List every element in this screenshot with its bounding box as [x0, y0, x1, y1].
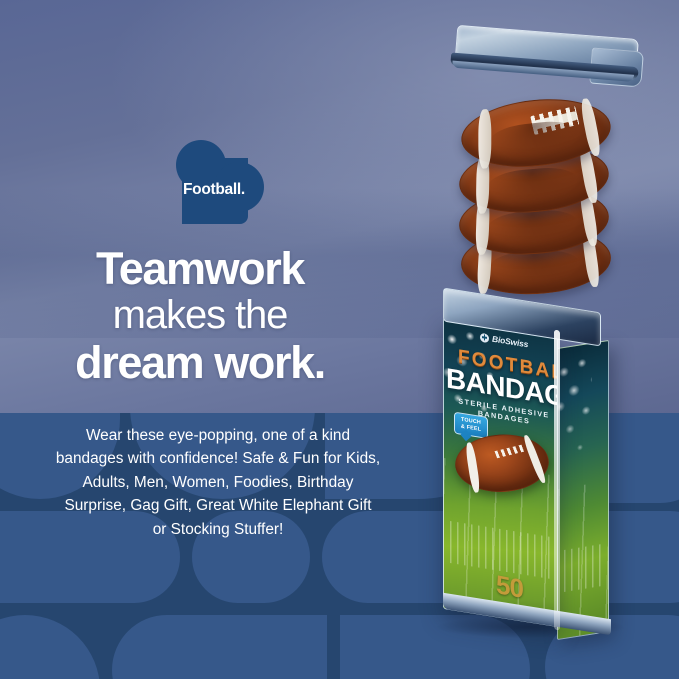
body-copy-line: or Stocking Stuffer!: [22, 518, 414, 541]
heart-logo-label: Football.: [176, 181, 272, 199]
product-tin: BioSwiss FOOTBALL BANDAGE STERILE ADHESI…: [433, 300, 633, 630]
body-copy-line: Wear these eye-popping, one of a kind: [22, 424, 414, 447]
medical-cross-icon: [480, 332, 489, 342]
tin-edge-highlight: [554, 330, 560, 631]
body-copy-line: Surprise, Gag Gift, Great White Elephant…: [22, 494, 414, 517]
promo-image: Football. Teamwork makes the dream work.…: [0, 0, 679, 679]
headline-line-2: makes the: [0, 293, 400, 338]
bandage-stack: [447, 100, 637, 300]
bandage-count: 50: [496, 569, 523, 605]
tin-side-panel: [557, 340, 609, 640]
pattern-shape: [112, 615, 327, 679]
headline: Teamwork makes the dream work.: [0, 246, 400, 386]
brand-heart-logo: Football.: [168, 136, 272, 226]
headline-line-3: dream work.: [0, 339, 400, 386]
body-copy: Wear these eye-popping, one of a kind ba…: [22, 424, 414, 541]
touch-and-feel-badge: TOUCH & FEEL: [454, 412, 488, 439]
body-copy-line: Adults, Men, Women, Foodies, Birthday: [22, 471, 414, 494]
tin-front-panel: BioSwiss FOOTBALL BANDAGE STERILE ADHESI…: [443, 317, 558, 627]
headline-line-1: Teamwork: [0, 246, 400, 292]
body-copy-line: bandages with confidence! Safe & Fun for…: [22, 447, 414, 470]
pattern-shape: [0, 615, 100, 679]
stadium-lights-icon: [557, 354, 592, 480]
